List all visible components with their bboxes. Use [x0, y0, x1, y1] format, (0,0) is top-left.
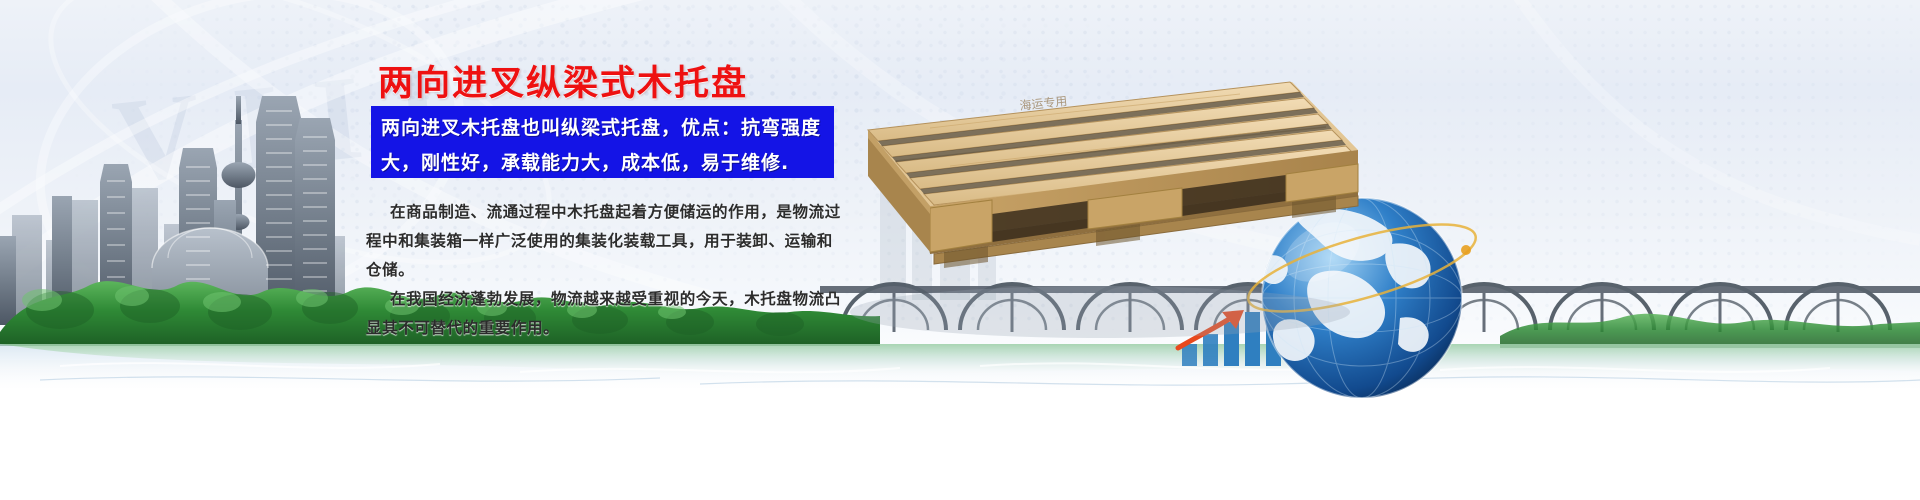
- highlight-callout-box: 两向进叉木托盘也叫纵梁式托盘，优点：抗弯强度 大，刚性好，承载能力大，成本低，易…: [371, 106, 834, 178]
- highlight-line-2: 大，刚性好，承载能力大，成本低，易于维修.: [381, 146, 824, 181]
- page-title: 两向进叉纵梁式木托盘: [378, 55, 848, 106]
- body-paragraph-1: 在商品制造、流通过程中木托盘起着方便储运的作用，是物流过程中和集装箱一样广泛使用…: [366, 198, 846, 285]
- body-paragraph-2: 在我国经济蓬勃发展，物流越来越受重视的今天，木托盘物流凸显其不可替代的重要作用。: [366, 285, 846, 343]
- product-banner: VIII: [0, 0, 1920, 500]
- highlight-line-1: 两向进叉木托盘也叫纵梁式托盘，优点：抗弯强度: [381, 111, 824, 146]
- water-reflection: [0, 344, 1920, 500]
- body-copy: 在商品制造、流通过程中木托盘起着方便储运的作用，是物流过程中和集装箱一样广泛使用…: [366, 198, 846, 343]
